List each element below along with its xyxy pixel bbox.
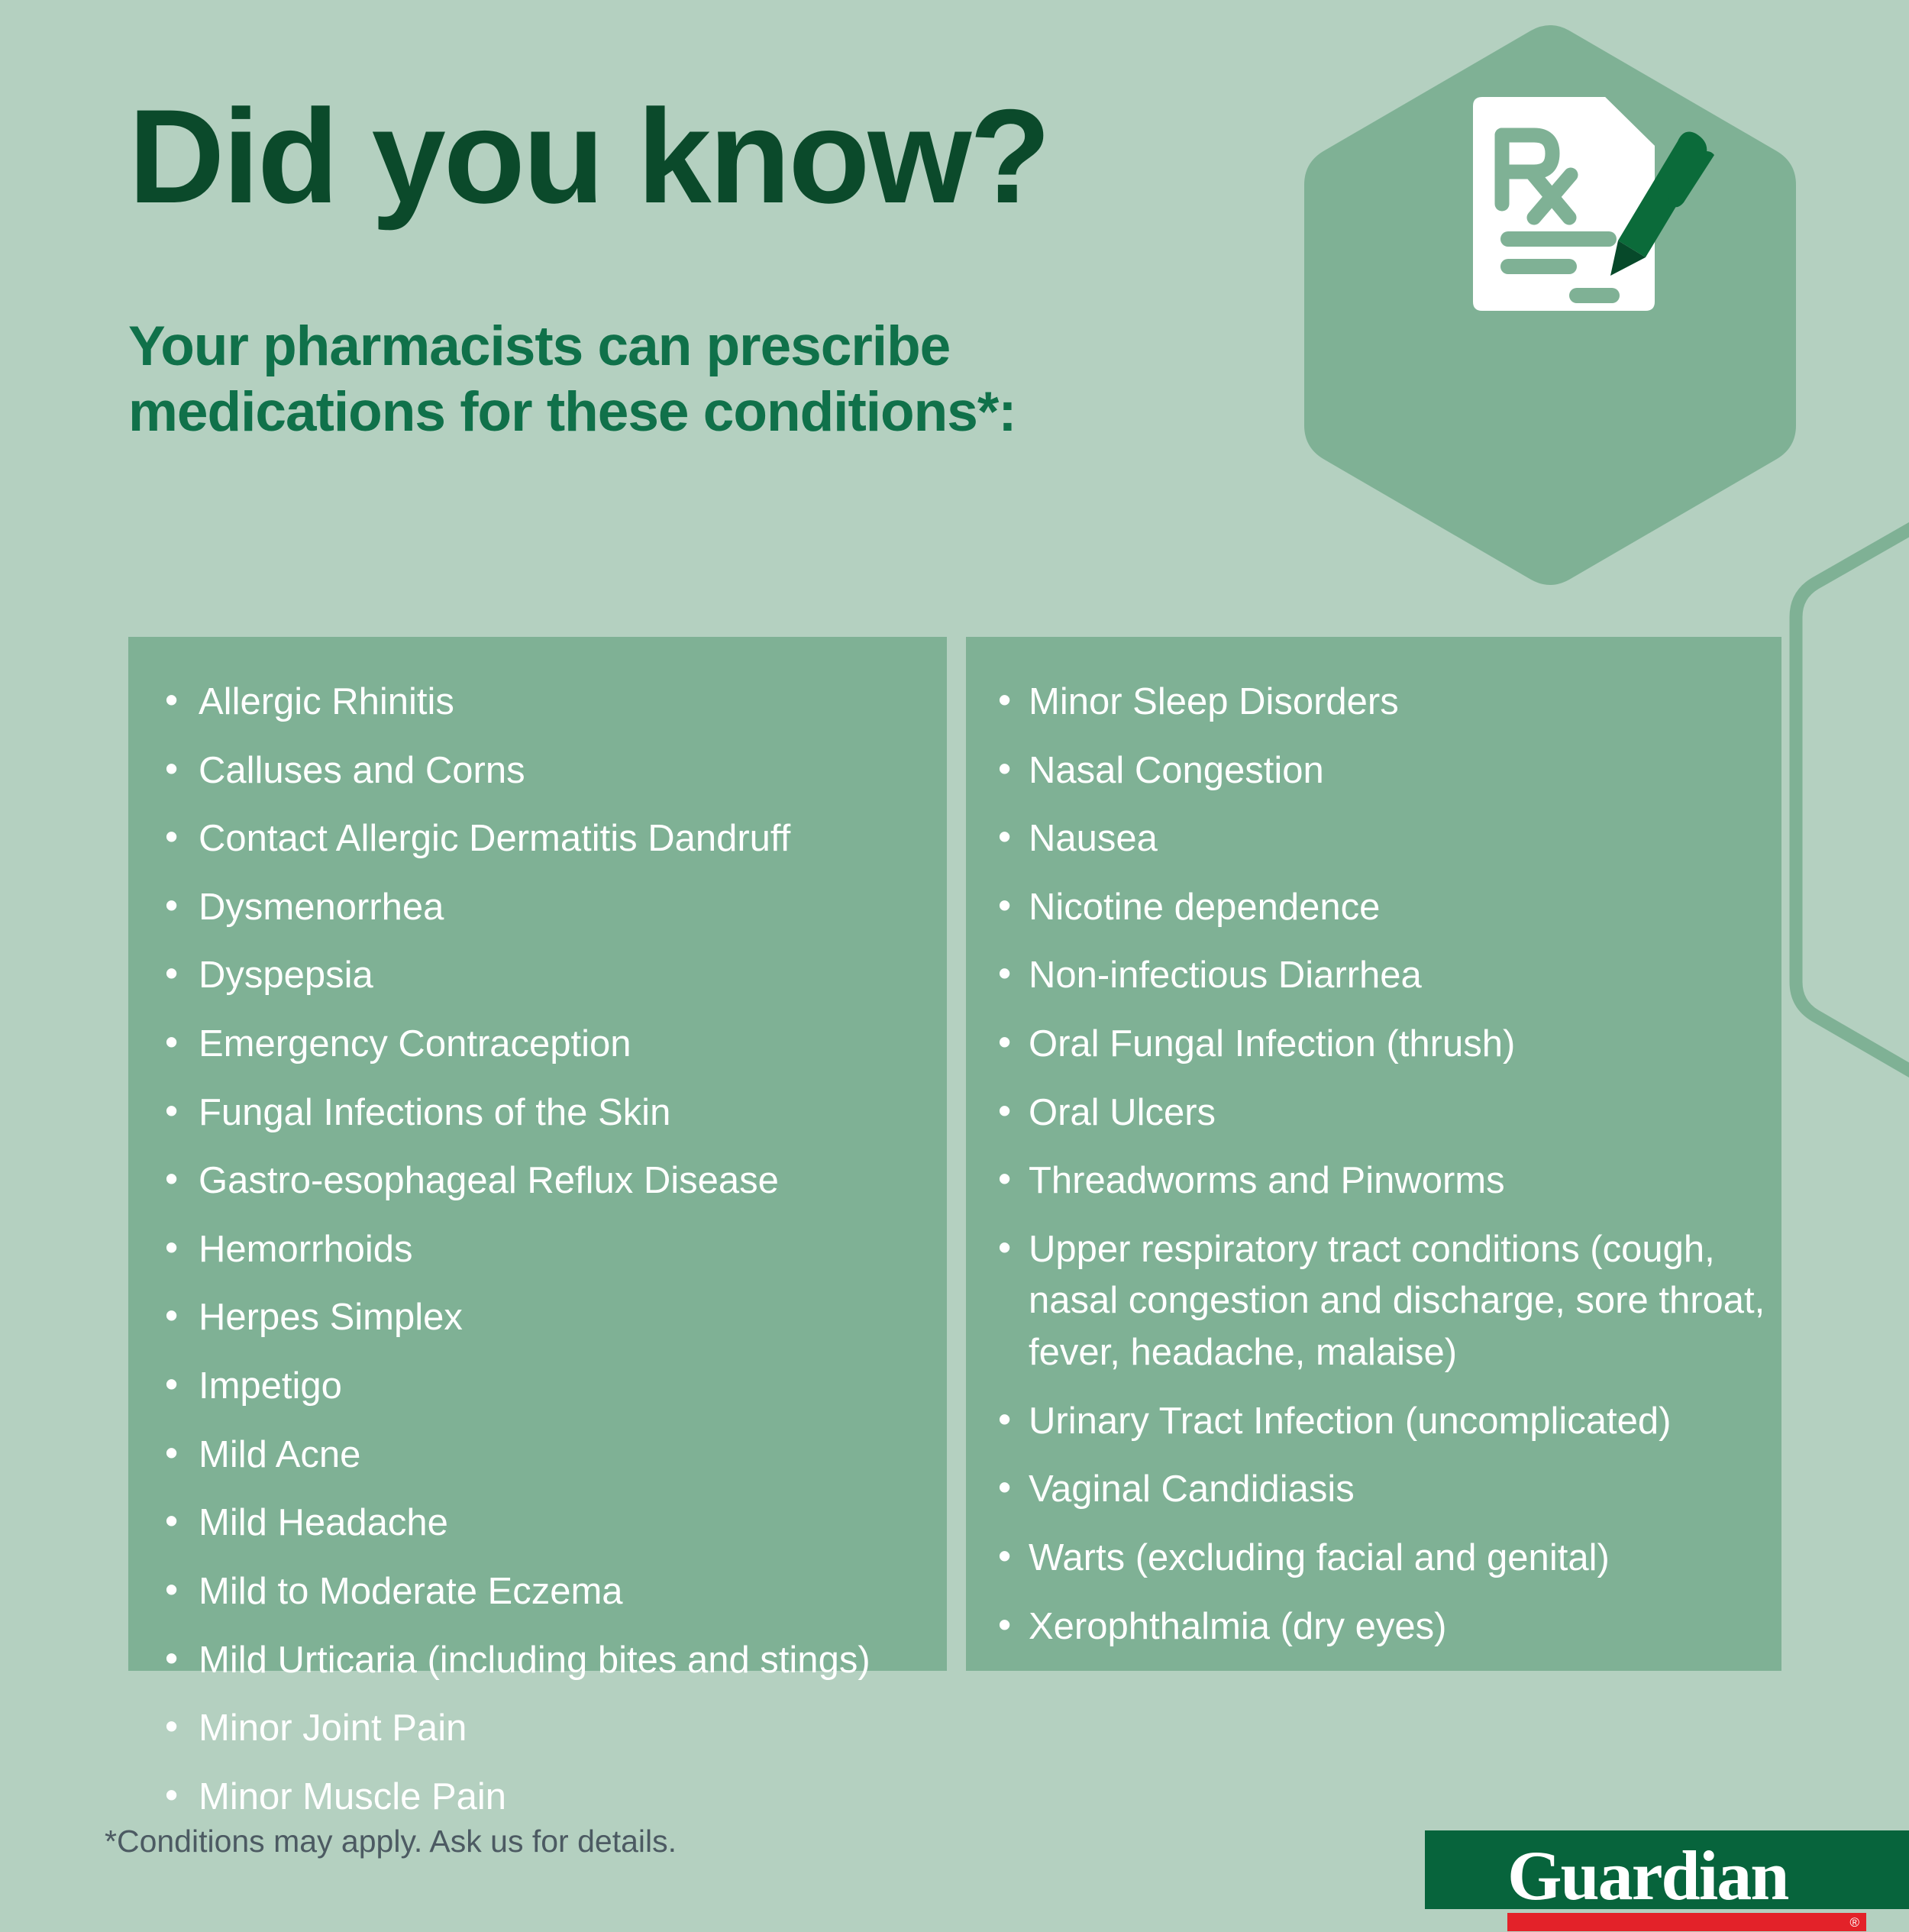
logo-wordmark: Guardian: [1507, 1847, 1866, 1905]
guardian-logo: Guardian ®: [1425, 1830, 1909, 1909]
list-item: Herpes Simplex: [144, 1292, 932, 1344]
conditions-panels: Allergic RhinitisCalluses and CornsConta…: [128, 637, 1781, 1671]
list-item: Nausea: [981, 813, 1766, 865]
list-item: Minor Joint Pain: [144, 1703, 932, 1755]
page-title: Did you know?: [128, 90, 1320, 224]
list-item: Nicotine dependence: [981, 882, 1766, 934]
list-item: Upper respiratory tract conditions (coug…: [981, 1224, 1766, 1379]
list-item: Hemorrhoids: [144, 1224, 932, 1276]
disclaimer-text: *Conditions may apply. Ask us for detail…: [105, 1824, 677, 1859]
list-item: Minor Muscle Pain: [144, 1772, 932, 1824]
conditions-list-left: Allergic RhinitisCalluses and CornsConta…: [144, 677, 932, 1823]
list-item: Mild to Moderate Eczema: [144, 1566, 932, 1618]
list-item: Non-infectious Diarrhea: [981, 950, 1766, 1002]
list-item: Dyspepsia: [144, 950, 932, 1002]
logo-inner: Guardian ®: [1507, 1847, 1866, 1931]
subtitle-line-1: Your pharmacists can prescribe: [128, 315, 950, 377]
header: Did you know? Your pharmacists can presc…: [128, 90, 1320, 445]
conditions-list-right: Minor Sleep DisordersNasal CongestionNau…: [981, 677, 1766, 1653]
list-item: Impetigo: [144, 1361, 932, 1413]
subtitle-line-2: medications for these conditions*:: [128, 381, 1016, 443]
list-item: Allergic Rhinitis: [144, 677, 932, 729]
conditions-panel-left: Allergic RhinitisCalluses and CornsConta…: [128, 637, 947, 1671]
list-item: Warts (excluding facial and genital): [981, 1533, 1766, 1585]
list-item: Mild Urticaria (including bites and stin…: [144, 1635, 932, 1687]
list-item: Mild Headache: [144, 1497, 932, 1549]
conditions-panel-right: Minor Sleep DisordersNasal CongestionNau…: [966, 637, 1781, 1671]
list-item: Vaginal Candidiasis: [981, 1464, 1766, 1516]
list-item: Emergency Contraception: [144, 1019, 932, 1071]
list-item: Contact Allergic Dermatitis Dandruff: [144, 813, 932, 865]
list-item: Gastro-esophageal Reflux Disease: [144, 1155, 932, 1207]
list-item: Mild Acne: [144, 1430, 932, 1481]
page-subtitle: Your pharmacists can prescribe medicatio…: [128, 314, 1320, 445]
list-item: Oral Ulcers: [981, 1087, 1766, 1139]
list-item: Minor Sleep Disorders: [981, 677, 1766, 729]
rx-document-icon: [1455, 95, 1714, 347]
list-item: Oral Fungal Infection (thrush): [981, 1019, 1766, 1071]
list-item: Urinary Tract Infection (uncomplicated): [981, 1396, 1766, 1448]
registered-trademark-icon: ®: [1849, 1914, 1859, 1932]
list-item: Dysmenorrhea: [144, 882, 932, 934]
hexagon-outline-icon: [1796, 520, 1909, 1080]
logo-red-bar: ®: [1507, 1913, 1866, 1931]
list-item: Fungal Infections of the Skin: [144, 1087, 932, 1139]
list-item: Nasal Congestion: [981, 745, 1766, 797]
list-item: Calluses and Corns: [144, 745, 932, 797]
list-item: Threadworms and Pinworms: [981, 1155, 1766, 1207]
list-item: Xerophthalmia (dry eyes): [981, 1601, 1766, 1653]
